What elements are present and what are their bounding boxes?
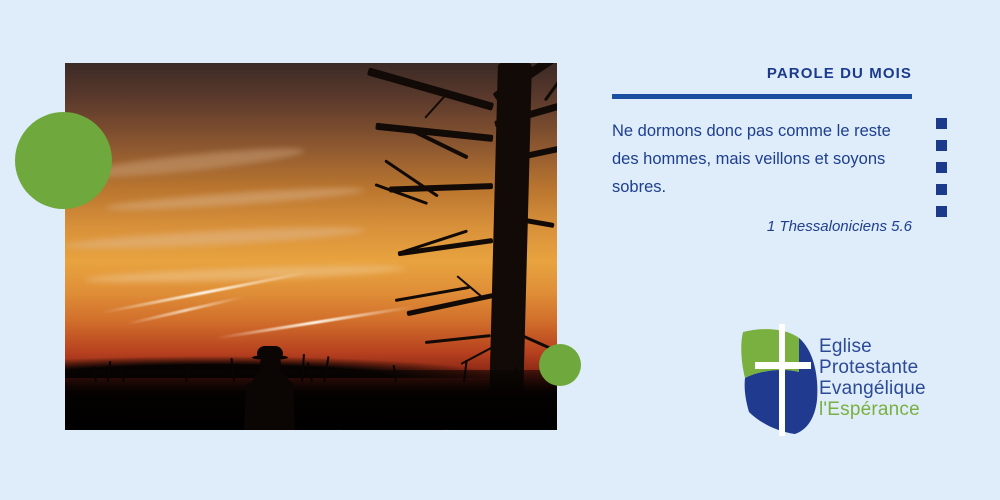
- tree-branch: [425, 334, 491, 344]
- quote-text: Ne dormons donc pas comme le reste des h…: [612, 117, 912, 201]
- section-kicker: PAROLE DU MOIS: [767, 65, 912, 82]
- logo-wordmark: Eglise Protestante Evangélique l'Espéran…: [819, 336, 926, 420]
- poster-canvas: PAROLE DU MOIS Ne dormons donc pas comme…: [0, 0, 1000, 500]
- bench-silhouette: [333, 429, 453, 430]
- tree-twig: [456, 275, 482, 297]
- cloud-streak: [65, 223, 365, 253]
- torso: [250, 370, 291, 430]
- church-logo: Eglise Protestante Evangélique l'Espéran…: [733, 320, 948, 438]
- large-green-circle: [15, 112, 112, 209]
- logo-sail-cross-icon: [733, 320, 825, 438]
- decoration-square: [936, 184, 947, 195]
- tree-twig: [544, 67, 557, 101]
- tree-branch: [367, 67, 494, 111]
- content-column: PAROLE DU MOIS Ne dormons donc pas comme…: [600, 0, 1000, 500]
- man-silhouette: [243, 346, 299, 430]
- decoration-square: [936, 118, 947, 129]
- decoration-square: [936, 140, 947, 151]
- decoration-square: [936, 206, 947, 217]
- logo-line-3: Evangélique: [819, 378, 926, 399]
- decoration-square: [936, 162, 947, 173]
- cloud-streak: [105, 184, 365, 214]
- logo-line-4: l'Espérance: [819, 399, 926, 420]
- tree-twig: [424, 92, 448, 119]
- square-decoration-group: [936, 118, 947, 217]
- bench-armrest: [337, 429, 341, 430]
- logo-line-1: Eglise: [819, 336, 926, 357]
- quote-attribution: 1 Thessaloniciens 5.6: [612, 218, 912, 235]
- title-divider: [612, 94, 912, 99]
- walking-cane: [291, 422, 297, 430]
- bench-armrest: [445, 429, 449, 430]
- logo-line-2: Protestante: [819, 357, 926, 378]
- hero-photo: [65, 63, 557, 430]
- small-green-circle: [539, 344, 581, 386]
- tree-branch: [389, 183, 493, 193]
- sunset-photo-image: [65, 63, 557, 430]
- contrail-streak: [126, 296, 244, 326]
